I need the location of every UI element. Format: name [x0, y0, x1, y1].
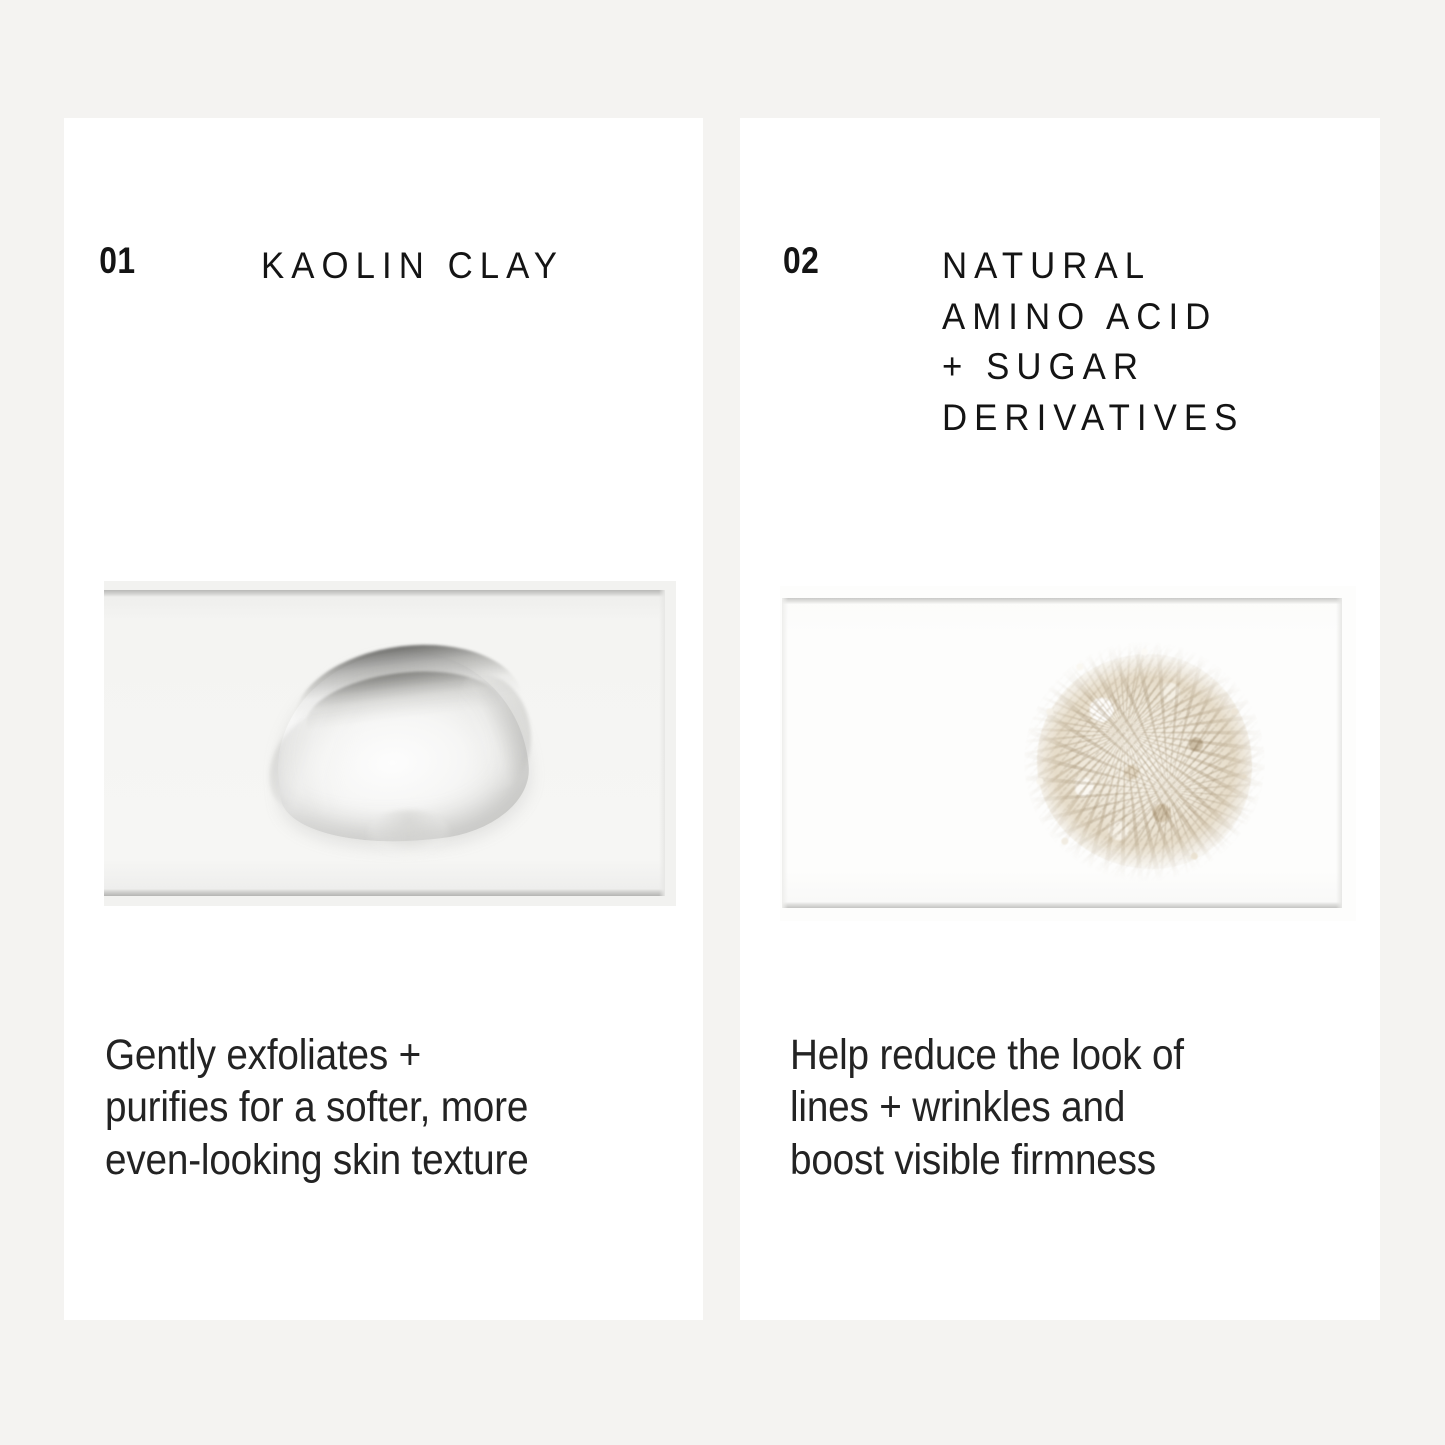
powder-pile-icon	[1037, 654, 1252, 869]
tray-top-band	[782, 598, 1342, 604]
card-01-number: 01	[64, 242, 157, 279]
card-02-heading: 02 NATURAL AMINO ACID + SUGAR DERIVATIVE…	[740, 242, 1380, 444]
card-02-title: NATURAL AMINO ACID + SUGAR DERIVATIVES	[942, 241, 1244, 444]
card-01-title: KAOLIN CLAY	[261, 241, 564, 292]
card-02-image	[780, 586, 1356, 921]
card-01-image	[104, 581, 676, 906]
clay-smear-icon	[276, 652, 526, 842]
card-02-description: Help reduce the look of lines + wrinkles…	[790, 1029, 1299, 1186]
card-02-tray	[782, 598, 1342, 908]
clay-swatch-area	[104, 590, 665, 896]
tray-right-edge	[1336, 598, 1342, 908]
card-01-heading: 01 KAOLIN CLAY	[64, 242, 703, 292]
tray-bottom-band	[782, 902, 1342, 908]
powder-specks	[1020, 637, 1269, 886]
clay-smear-notch	[366, 810, 451, 859]
tray-left-edge	[782, 598, 788, 908]
ingredient-card-01: 01 KAOLIN CLAY	[64, 118, 703, 1320]
ingredient-benefits-graphic: 01 KAOLIN CLAY	[0, 0, 1445, 1445]
ingredient-card-02: 02 NATURAL AMINO ACID + SUGAR DERIVATIVE…	[740, 118, 1380, 1320]
card-01-tray	[104, 590, 665, 896]
card-02-number: 02	[740, 242, 833, 279]
card-01-description: Gently exfoliates + purifies for a softe…	[105, 1029, 622, 1186]
